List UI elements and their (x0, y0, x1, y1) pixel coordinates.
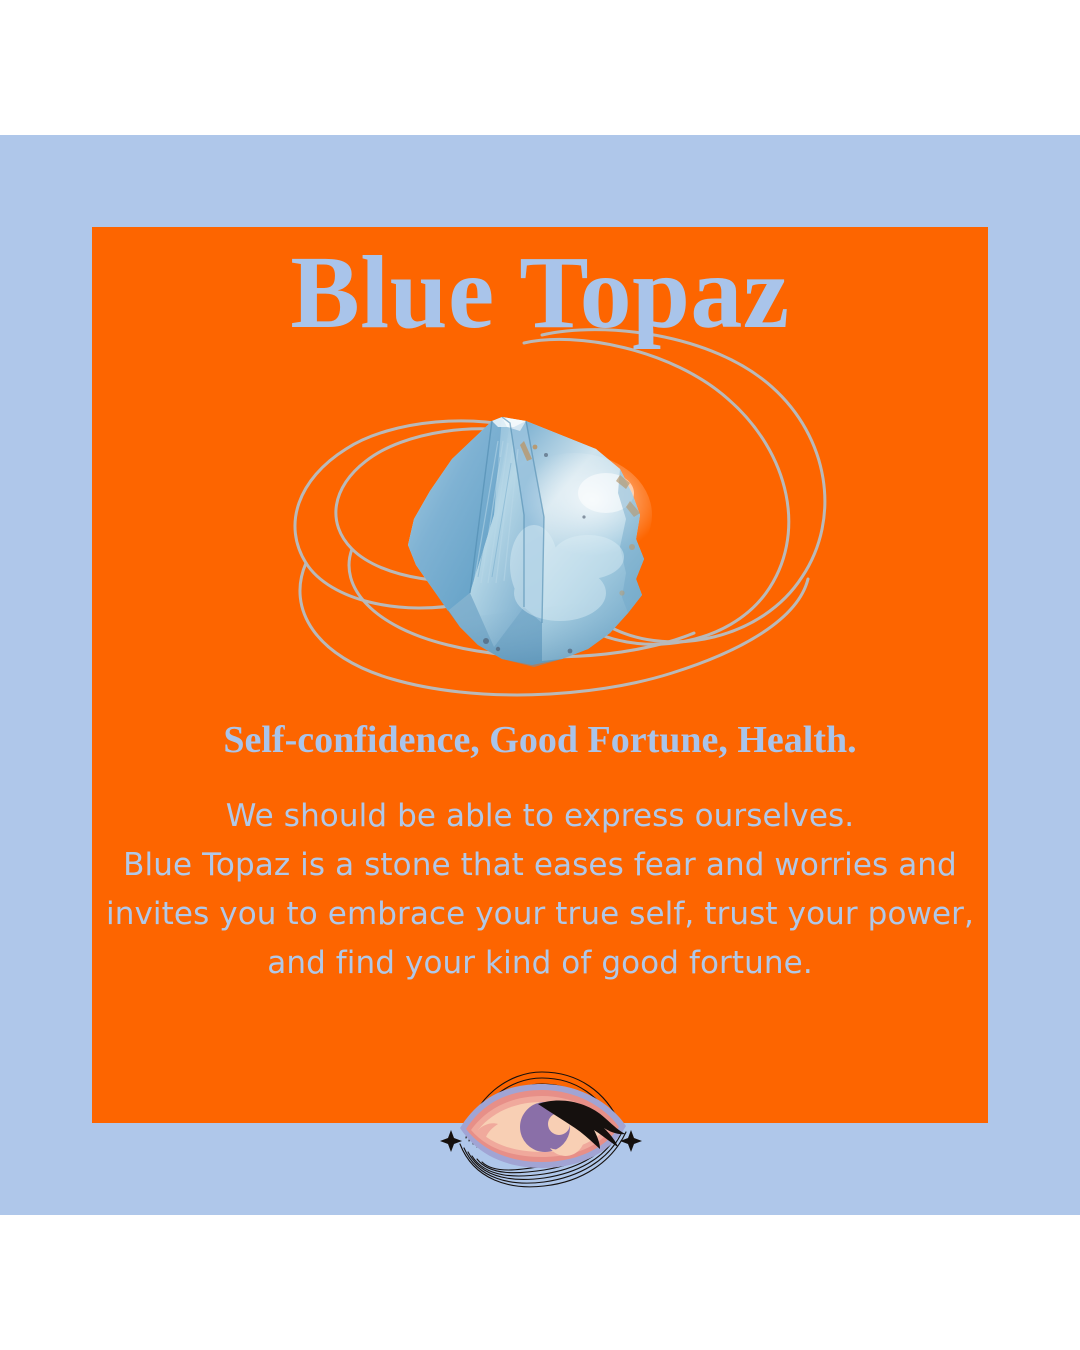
body-line: We should be able to express ourselves. (92, 792, 988, 841)
poster-canvas: Blue Topaz Self-confidence, Good Fortune… (0, 0, 1080, 1350)
body-line: invites you to embrace your true self, t… (92, 890, 988, 939)
page-title: Blue Topaz (92, 241, 988, 345)
body-description: We should be able to express ourselves. … (92, 792, 988, 988)
sparkle-star-icon (440, 1130, 462, 1152)
body-line: Blue Topaz is a stone that eases fear an… (92, 841, 988, 890)
body-line: and find your kind of good fortune. (92, 939, 988, 988)
subtitle-keywords: Self-confidence, Good Fortune, Health. (92, 720, 988, 762)
blue-topaz-crystal (374, 397, 704, 687)
orange-content-card: Blue Topaz Self-confidence, Good Fortune… (92, 227, 988, 1123)
mystic-eye-logo (430, 1062, 652, 1192)
